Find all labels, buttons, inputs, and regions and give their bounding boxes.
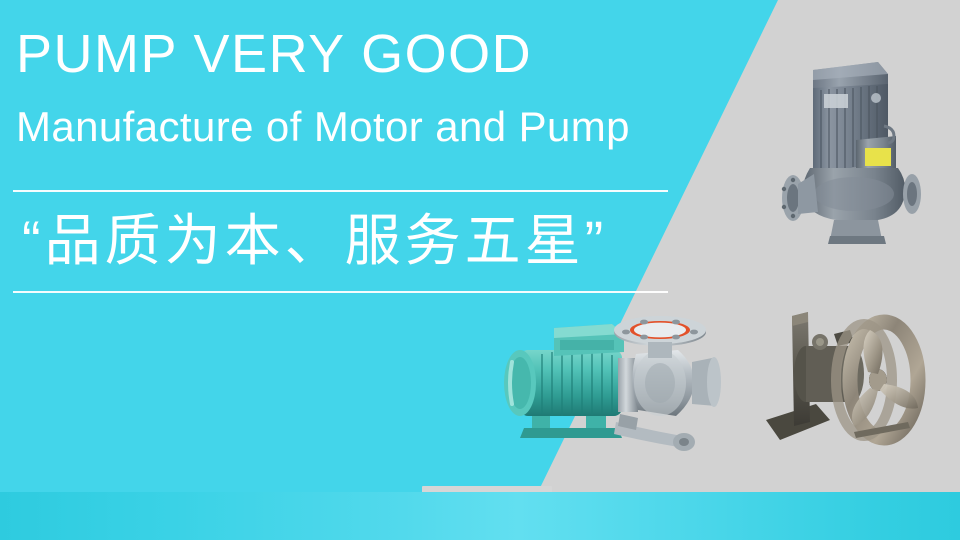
bottom-accent-bar	[0, 492, 960, 540]
product-image-submersible-mixer	[758, 296, 944, 462]
banner-headline: PUMP VERY GOOD	[16, 26, 532, 83]
banner-slogan: “品质为本、服务五星”	[22, 200, 682, 282]
promo-banner: PUMP VERY GOOD Manufacture of Motor and …	[0, 0, 960, 540]
divider-line-bottom	[13, 291, 668, 293]
divider-line-top	[13, 190, 668, 192]
product-image-vertical-inline-pipeline-pump	[766, 44, 952, 254]
banner-subheadline: Manufacture of Motor and Pump	[16, 104, 630, 150]
product-image-horizontal-centrifugal-pump	[498, 306, 738, 458]
